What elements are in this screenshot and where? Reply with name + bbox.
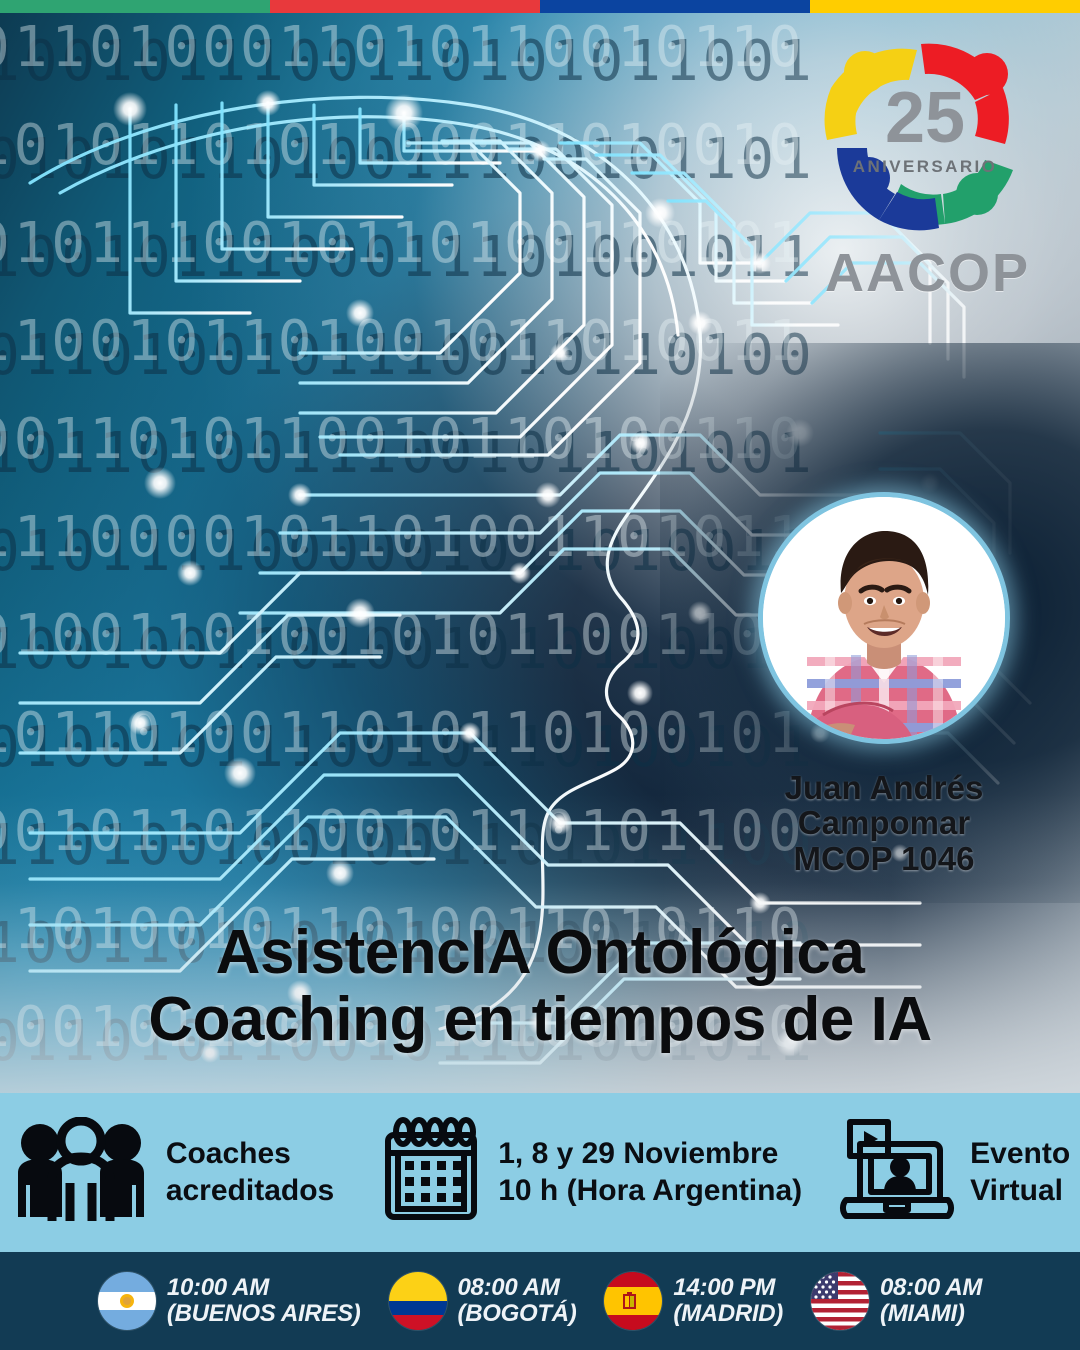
logo-anniversary-label: ANIVERSARIO bbox=[853, 157, 997, 176]
spain-flag-icon bbox=[604, 1272, 662, 1330]
date-line2: 10 h (Hora Argentina) bbox=[498, 1174, 802, 1207]
timezone-footer: 10:00 AM (BUENOS AIRES) 08:00 AM (BOGOTÁ… bbox=[0, 1252, 1080, 1350]
calendar-icon bbox=[378, 1115, 484, 1230]
top-color-bar bbox=[0, 0, 1080, 13]
timezone-text-bogota: 08:00 AM (BOGOTÁ) bbox=[458, 1275, 577, 1328]
info-bar: Coaches acreditados bbox=[0, 1093, 1080, 1252]
aacop-wordmark: AACOP bbox=[805, 242, 1050, 304]
coaches-line2: acreditados bbox=[166, 1174, 334, 1207]
poster-canvas: 1001011100110101011001 01010110100111001… bbox=[0, 0, 1080, 1350]
coaches-line1: Coaches bbox=[166, 1137, 291, 1170]
timezone-miami: 08:00 AM (MIAMI) bbox=[811, 1272, 982, 1330]
timezone-text-miami: 08:00 AM (MIAMI) bbox=[880, 1275, 982, 1328]
tz-city-bogota: (BOGOTÁ) bbox=[458, 1301, 577, 1327]
info-text-date: 1, 8 y 29 Noviembre 10 h (Hora Argentina… bbox=[498, 1136, 802, 1209]
tz-time-miami: 08:00 AM bbox=[880, 1274, 982, 1301]
info-item-coaches: Coaches acreditados bbox=[10, 1117, 334, 1228]
tz-time-buenos-aires: 10:00 AM bbox=[167, 1274, 269, 1301]
timezone-buenos-aires: 10:00 AM (BUENOS AIRES) bbox=[98, 1272, 361, 1330]
info-item-virtual: Evento Virtual bbox=[838, 1114, 1070, 1231]
colombia-flag-icon bbox=[389, 1272, 447, 1330]
timezone-text-buenos-aires: 10:00 AM (BUENOS AIRES) bbox=[167, 1275, 361, 1328]
virtual-line1: Evento bbox=[970, 1137, 1070, 1170]
info-text-coaches: Coaches acreditados bbox=[166, 1136, 334, 1209]
date-line1: 1, 8 y 29 Noviembre bbox=[498, 1137, 778, 1170]
speaker-credential: MCOP 1046 bbox=[758, 841, 1010, 876]
tz-city-buenos-aires: (BUENOS AIRES) bbox=[167, 1301, 361, 1327]
laptop-webinar-icon bbox=[838, 1114, 956, 1231]
speaker-avatar bbox=[758, 492, 1010, 744]
logo-anniversary-number: 25 bbox=[885, 78, 965, 158]
info-text-virtual: Evento Virtual bbox=[970, 1136, 1070, 1209]
usa-flag-icon bbox=[811, 1272, 869, 1330]
color-segment-red bbox=[270, 0, 540, 13]
timezone-bogota: 08:00 AM (BOGOTÁ) bbox=[389, 1272, 577, 1330]
speaker-block: Juan Andrés Campomar MCOP 1046 bbox=[758, 492, 1010, 876]
tz-time-madrid: 14:00 PM bbox=[673, 1274, 775, 1301]
color-segment-yellow bbox=[810, 0, 1080, 13]
speaker-name: Juan Andrés Campomar MCOP 1046 bbox=[758, 770, 1010, 876]
timezone-text-madrid: 14:00 PM (MADRID) bbox=[673, 1275, 783, 1328]
title-line-1: AsistencIA Ontológica bbox=[0, 920, 1080, 987]
speaker-portrait-icon bbox=[763, 497, 1005, 739]
timezone-madrid: 14:00 PM (MADRID) bbox=[604, 1272, 783, 1330]
speaker-name-line1: Juan Andrés bbox=[758, 770, 1010, 805]
virtual-line2: Virtual bbox=[970, 1174, 1063, 1207]
page-title: AsistencIA Ontológica Coaching en tiempo… bbox=[0, 920, 1080, 1054]
tz-time-bogota: 08:00 AM bbox=[458, 1274, 560, 1301]
speaker-name-line2: Campomar bbox=[758, 805, 1010, 840]
argentina-flag-icon bbox=[98, 1272, 156, 1330]
aacop-logo: 25 ANIVERSARIO AACOP bbox=[805, 28, 1050, 303]
aacop-25-aniversario-icon: 25 ANIVERSARIO bbox=[805, 28, 1050, 246]
tz-city-miami: (MIAMI) bbox=[880, 1301, 982, 1327]
info-item-date: 1, 8 y 29 Noviembre 10 h (Hora Argentina… bbox=[378, 1115, 802, 1230]
people-group-icon bbox=[10, 1117, 152, 1228]
color-segment-green bbox=[0, 0, 270, 13]
title-line-2: Coaching en tiempos de IA bbox=[0, 987, 1080, 1054]
tz-city-madrid: (MADRID) bbox=[673, 1301, 783, 1327]
color-segment-blue bbox=[540, 0, 810, 13]
